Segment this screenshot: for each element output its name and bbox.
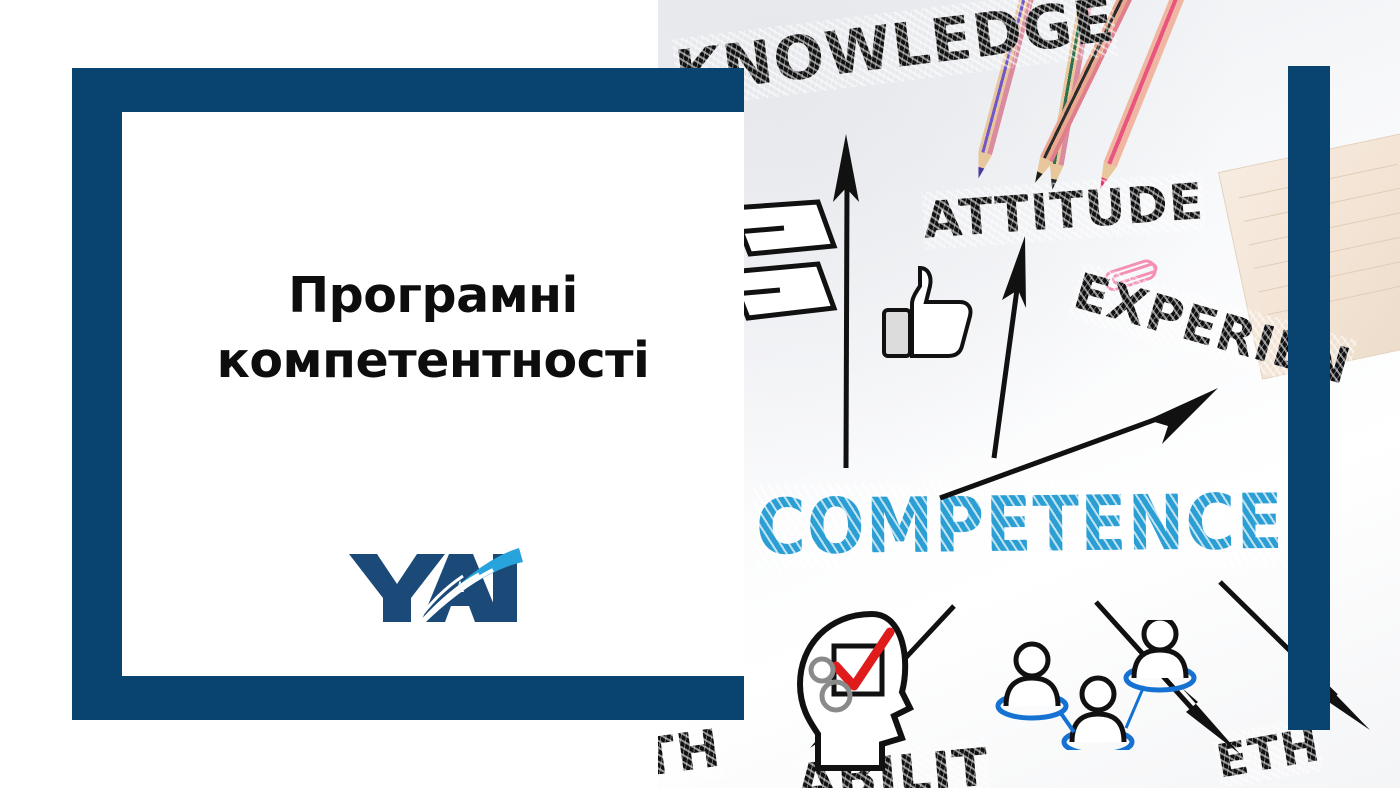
page-title-line-2: компетентності <box>122 329 744 394</box>
team-network-icon <box>994 620 1204 755</box>
frame-border-top <box>72 68 744 112</box>
page-title: Програмні компетентності <box>122 264 744 393</box>
title-card: Програмні компетентності <box>122 112 744 676</box>
frame-border-bottom <box>72 676 744 720</box>
photo-word-growth: TH <box>658 719 725 788</box>
frame-border-left <box>72 68 122 720</box>
arrow-diagonal-experience <box>936 386 1226 506</box>
head-gears-checkmark-icon <box>786 604 956 779</box>
frame-border-right <box>1288 66 1330 730</box>
page-title-line-1: Програмні <box>122 264 744 329</box>
xai-logo <box>343 544 523 630</box>
slide-canvas: KNOWLEDGE ATTITUDE EXPERIEN TH ABILIT ET… <box>0 0 1400 788</box>
thumbs-up-icon <box>878 262 988 367</box>
